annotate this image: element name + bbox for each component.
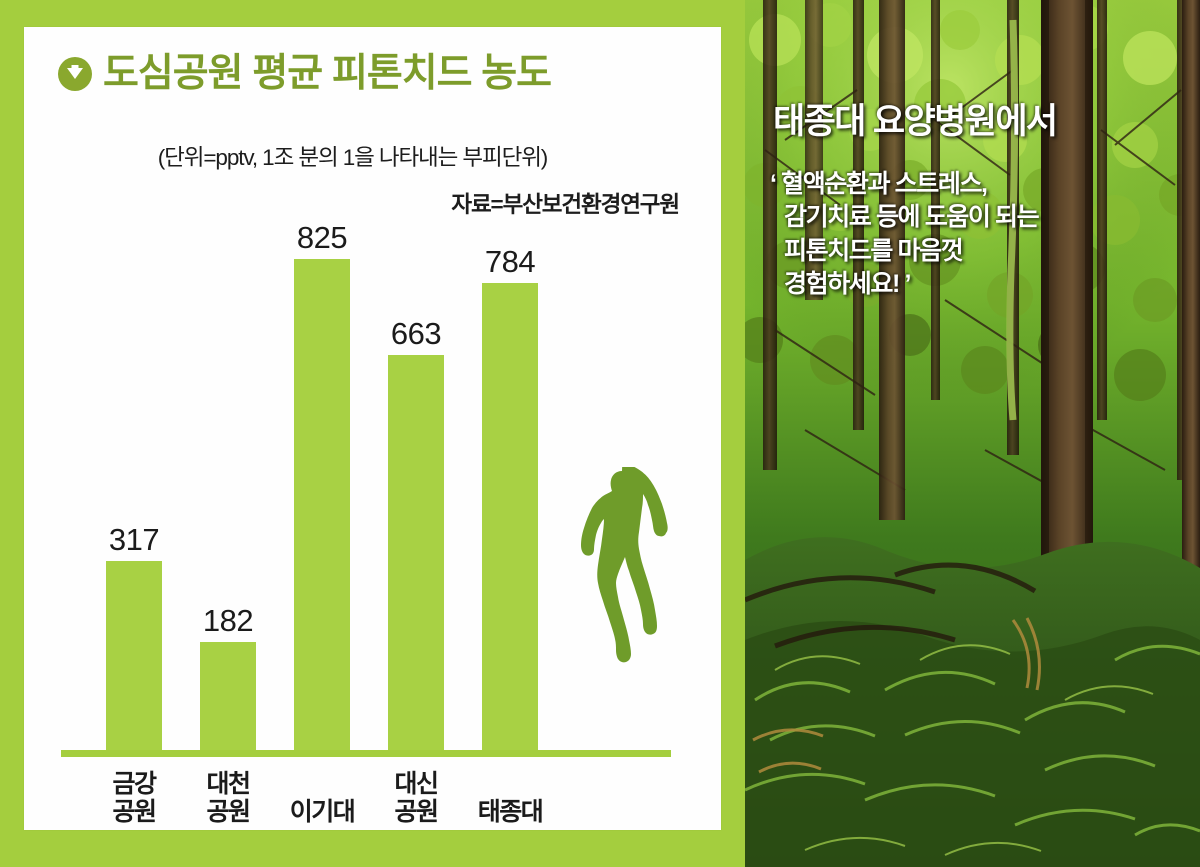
quote-line-2: 감기치료 등에 도움이 되는 (784, 201, 1190, 234)
headline: 태종대 요양병원에서 (773, 104, 1057, 139)
bar-group: 663대신공원 (388, 27, 444, 830)
bar-value-label: 784 (465, 246, 555, 277)
bar-chart-plot: 317금강공원182대천공원825이기대663대신공원784태종대 (24, 27, 721, 830)
quote-block: ‘ 혈액순환과 스트레스, 감기치료 등에 도움이 되는 피톤치드를 마음껏 경… (770, 168, 1190, 301)
forest-photo-panel: 태종대 요양병원에서 ‘ 혈액순환과 스트레스, 감기치료 등에 도움이 되는 … (745, 0, 1200, 867)
chart-baseline (61, 750, 671, 757)
bar-group: 182대천공원 (200, 27, 256, 830)
bar-group: 825이기대 (294, 27, 350, 830)
bar-value-label: 663 (371, 318, 461, 349)
chart-panel: 도심공원 평균 피톤치드 농도 (단위=pptv, 1조 분의 1을 나타내는 … (0, 0, 745, 867)
quote-line-1: ‘ 혈액순환과 스트레스, (770, 168, 1190, 201)
bar-category-label: 태종대 (455, 798, 565, 826)
bar[interactable] (294, 259, 350, 750)
bar[interactable] (200, 642, 256, 750)
bar[interactable] (482, 283, 538, 750)
quote-line-4: 경험하세요! ’ (784, 268, 1190, 301)
bar-group: 784태종대 (482, 27, 538, 830)
running-person-silhouette-icon (564, 467, 684, 757)
bar-value-label: 317 (89, 524, 179, 555)
bar[interactable] (388, 355, 444, 750)
quote-line-3: 피톤치드를 마음껏 (784, 235, 1190, 268)
bar[interactable] (106, 561, 162, 750)
chart-card: 도심공원 평균 피톤치드 농도 (단위=pptv, 1조 분의 1을 나타내는 … (24, 27, 721, 830)
bar-value-label: 825 (277, 222, 367, 253)
bar-group: 317금강공원 (106, 27, 162, 830)
bar-value-label: 182 (183, 605, 273, 636)
